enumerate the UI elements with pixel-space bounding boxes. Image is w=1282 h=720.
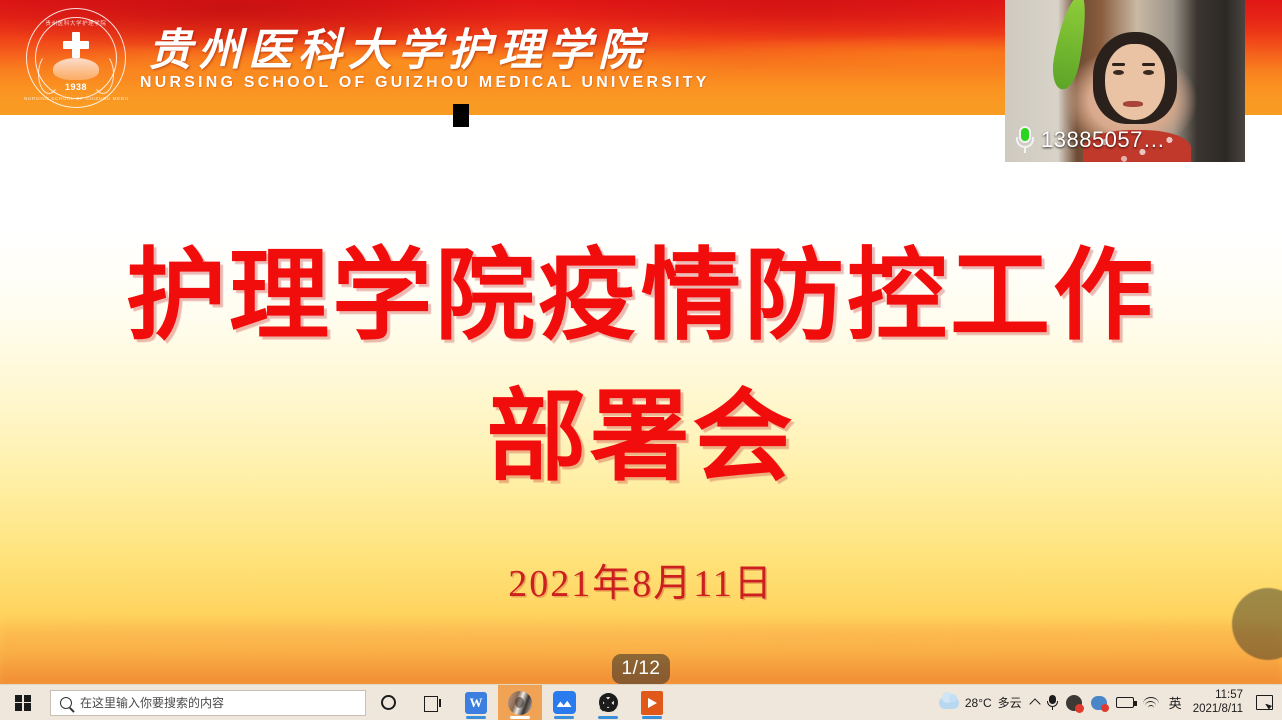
search-placeholder-text: 在这里输入你要搜索的内容: [80, 694, 224, 711]
taskbar-item-blue-app[interactable]: [542, 685, 586, 720]
medical-cross-icon: [63, 32, 89, 58]
desktop-screen: 贵州医科大学护理学院 1938 NURSING SCHOOL OF GUIZHO…: [0, 0, 1282, 720]
ime-language-indicator[interactable]: 英: [1169, 693, 1182, 712]
cloud-band-upper: [0, 626, 1282, 640]
photo-viewer-icon: [508, 691, 532, 715]
slide-page-counter: 1/12: [612, 654, 670, 684]
weather-temperature: 28°C: [965, 696, 992, 710]
participant-mouth: [1123, 101, 1143, 107]
participant-brow-left: [1112, 63, 1125, 66]
windows-taskbar: 在这里输入你要搜索的内容 W: [0, 684, 1282, 720]
cloud-icon: [939, 697, 959, 709]
weather-condition: 多云: [998, 694, 1022, 711]
slide-date: 2021年8月11日: [0, 552, 1282, 607]
windows-logo-icon: [15, 695, 31, 711]
text-cursor-marker: [453, 104, 469, 127]
slide-title-line2: 部署会: [0, 355, 1282, 500]
clock-widget[interactable]: 11:57 2021/8/11: [1191, 689, 1243, 715]
clock-time: 11:57: [1215, 689, 1243, 702]
microphone-icon[interactable]: [1015, 126, 1035, 154]
running-indicator: [554, 716, 574, 719]
banner-title-english: NURSING SCHOOL OF GUIZHOU MEDICAL UNIVER…: [140, 74, 710, 92]
participant-face: [1105, 44, 1165, 120]
task-view-icon: [424, 696, 441, 710]
running-indicator: [598, 716, 618, 719]
microphone-stem: [1024, 147, 1026, 153]
tray-messenger-icon[interactable]: [1066, 695, 1082, 711]
weather-widget[interactable]: 28°C 多云: [939, 694, 1022, 711]
action-center-icon[interactable]: [1256, 695, 1274, 711]
participant-phone-number: 13885057…: [1041, 127, 1165, 153]
tray-cloud-sync-icon[interactable]: [1091, 696, 1107, 710]
taskbar-search-input[interactable]: 在这里输入你要搜索的内容: [50, 690, 366, 716]
laurel-left-icon: [38, 54, 60, 94]
taskbar-item-task-view[interactable]: [410, 685, 454, 720]
taskbar-item-photo-viewer[interactable]: [498, 685, 542, 720]
participant-eye-right: [1143, 70, 1154, 75]
taskbar-item-media-player[interactable]: [630, 685, 674, 720]
university-logo-icon: 贵州医科大学护理学院 1938 NURSING SCHOOL OF GUIZHO…: [24, 6, 128, 110]
show-hidden-icons-chevron[interactable]: [1029, 698, 1040, 709]
media-player-icon: [641, 691, 663, 715]
start-button[interactable]: [0, 685, 46, 720]
participant-video-thumbnail[interactable]: 13885057…: [1005, 0, 1245, 162]
plant-leaf-decoration: [1049, 0, 1091, 92]
taskbar-item-cortana[interactable]: [366, 685, 410, 720]
banner-title-chinese: 贵州医科大学护理学院: [148, 14, 648, 78]
participant-brow-right: [1142, 63, 1155, 66]
cloud-band-middle: [0, 618, 1282, 658]
tray-microphone-icon[interactable]: [1048, 695, 1057, 710]
participant-label-bar: 13885057…: [1015, 126, 1165, 154]
clock-date: 2021/8/11: [1193, 703, 1243, 716]
taskbar-item-settings[interactable]: [586, 685, 630, 720]
logo-arc-bottom-text: NURSING SCHOOL OF GUIZHOU MEDICAL UNIVER…: [24, 96, 128, 101]
taskbar-item-wps-office[interactable]: W: [454, 685, 498, 720]
running-indicator: [642, 716, 662, 719]
gear-icon: [599, 693, 618, 712]
slide-title-line1: 护理学院疫情防控工作: [0, 214, 1282, 359]
wifi-icon[interactable]: [1143, 696, 1160, 709]
running-indicator: [510, 716, 530, 719]
laurel-right-icon: [92, 54, 114, 94]
participant-eye-left: [1113, 70, 1124, 75]
logo-arc-top-text: 贵州医科大学护理学院: [24, 19, 128, 27]
system-tray: 28°C 多云 英 11:57 2021/8/11: [939, 685, 1282, 720]
search-icon: [60, 697, 72, 709]
wps-office-icon: W: [465, 692, 487, 714]
cortana-icon: [381, 695, 396, 710]
running-indicator: [466, 716, 486, 719]
blue-app-icon: [553, 691, 576, 714]
battery-icon[interactable]: [1116, 697, 1134, 708]
logo-year: 1938: [65, 82, 87, 92]
